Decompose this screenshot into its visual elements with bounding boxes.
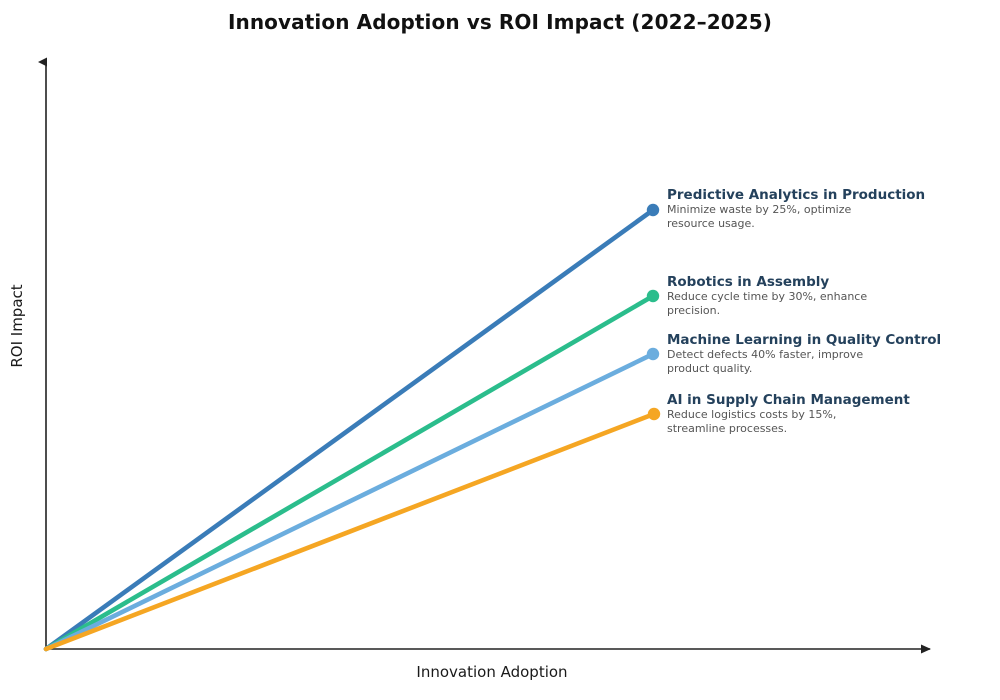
series-annotation-desc-line1-2: Detect defects 40% faster, improve (667, 349, 941, 362)
series-annotation-desc-line1-1: Reduce cycle time by 30%, enhance (667, 291, 867, 304)
x-axis-label: Innovation Adoption (46, 663, 938, 681)
series-endpoint-marker-0[interactable] (647, 204, 659, 216)
chart-figure: Innovation Adoption vs ROI Impact (2022–… (0, 0, 1000, 700)
series-annotation-0: Predictive Analytics in Production Minim… (667, 188, 925, 230)
series-annotation-desc-line2-1: precision. (667, 305, 867, 318)
series-annotation-title-0: Predictive Analytics in Production (667, 188, 925, 203)
series-endpoint-marker-1[interactable] (647, 290, 659, 302)
series-endpoint-group (647, 204, 660, 420)
series-annotation-3: AI in Supply Chain Management Reduce log… (667, 393, 910, 435)
series-annotation-desc-line1-3: Reduce logistics costs by 15%, (667, 409, 910, 422)
series-annotation-desc-line2-2: product quality. (667, 363, 941, 376)
series-line-group (46, 210, 654, 649)
series-annotation-desc-line2-0: resource usage. (667, 218, 925, 231)
series-line-1 (46, 296, 653, 649)
series-annotation-title-3: AI in Supply Chain Management (667, 393, 910, 408)
series-endpoint-marker-3[interactable] (648, 408, 660, 420)
series-annotation-title-1: Robotics in Assembly (667, 275, 867, 290)
series-line-3 (46, 414, 654, 649)
series-annotation-2: Machine Learning in Quality Control Dete… (667, 333, 941, 375)
series-annotation-1: Robotics in Assembly Reduce cycle time b… (667, 275, 867, 317)
series-line-2 (46, 354, 653, 649)
series-annotation-desc-line1-0: Minimize waste by 25%, optimize (667, 204, 925, 217)
y-axis-label: ROI Impact (8, 266, 26, 386)
series-endpoint-marker-2[interactable] (647, 348, 659, 360)
series-annotation-title-2: Machine Learning in Quality Control (667, 333, 941, 348)
series-annotation-desc-line2-3: streamline processes. (667, 423, 910, 436)
series-line-0 (46, 210, 653, 649)
